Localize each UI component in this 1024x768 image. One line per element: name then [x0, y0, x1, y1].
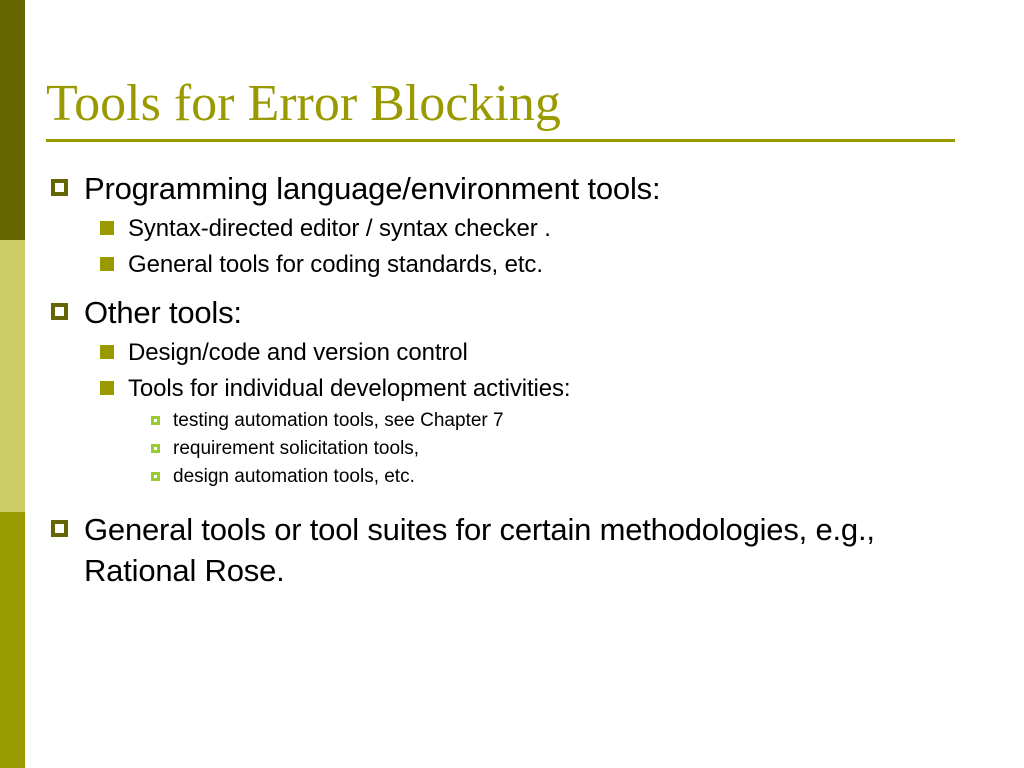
bullet-small-square-outline-icon: [151, 416, 160, 425]
bullet-square-filled-icon: [100, 345, 114, 359]
bullet-list: Programming language/environment tools: …: [51, 168, 994, 593]
bullet-small-square-outline-icon: [151, 472, 160, 481]
list-item: requirement solicitation tools,: [151, 435, 994, 463]
page-title: Tools for Error Blocking: [46, 78, 980, 130]
bullet-small-square-outline-icon: [151, 444, 160, 453]
list-item: testing automation tools, see Chapter 7: [151, 407, 994, 435]
list-item-label: testing automation tools, see Chapter 7: [173, 407, 994, 435]
bullet-square-outline-icon: [51, 520, 68, 537]
list-item: Other tools:: [51, 292, 994, 333]
list-item: Design/code and version control: [100, 335, 994, 370]
list-item-label: requirement solicitation tools,: [173, 435, 994, 463]
sidebar-band-middle: [0, 240, 25, 512]
bullet-square-filled-icon: [100, 381, 114, 395]
list-item: Syntax-directed editor / syntax checker …: [100, 211, 994, 246]
list-item: Tools for individual development activit…: [100, 371, 994, 406]
list-item-label: Syntax-directed editor / syntax checker …: [128, 211, 994, 246]
bullet-square-outline-icon: [51, 303, 68, 320]
list-item: Programming language/environment tools:: [51, 168, 994, 209]
list-item-label: Programming language/environment tools:: [84, 168, 994, 209]
list-item-label: Other tools:: [84, 292, 994, 333]
title-block: Tools for Error Blocking: [46, 78, 980, 142]
list-item-label: General tools or tool suites for certain…: [84, 509, 994, 591]
list-item-label: Design/code and version control: [128, 335, 994, 370]
bullet-square-outline-icon: [51, 179, 68, 196]
title-divider: [46, 139, 955, 142]
decorative-sidebar: [0, 0, 25, 768]
list-item: design automation tools, etc.: [151, 463, 994, 491]
list-item-label: General tools for coding standards, etc.: [128, 247, 994, 282]
sidebar-band-bottom: [0, 512, 25, 768]
bullet-square-filled-icon: [100, 257, 114, 271]
list-item-label: Tools for individual development activit…: [128, 371, 994, 406]
list-item: General tools for coding standards, etc.: [100, 247, 994, 282]
sidebar-band-top: [0, 0, 25, 240]
slide-canvas: Tools for Error Blocking Programming lan…: [25, 0, 1024, 768]
list-item: General tools or tool suites for certain…: [51, 509, 994, 591]
list-item-label: design automation tools, etc.: [173, 463, 994, 491]
bullet-square-filled-icon: [100, 221, 114, 235]
